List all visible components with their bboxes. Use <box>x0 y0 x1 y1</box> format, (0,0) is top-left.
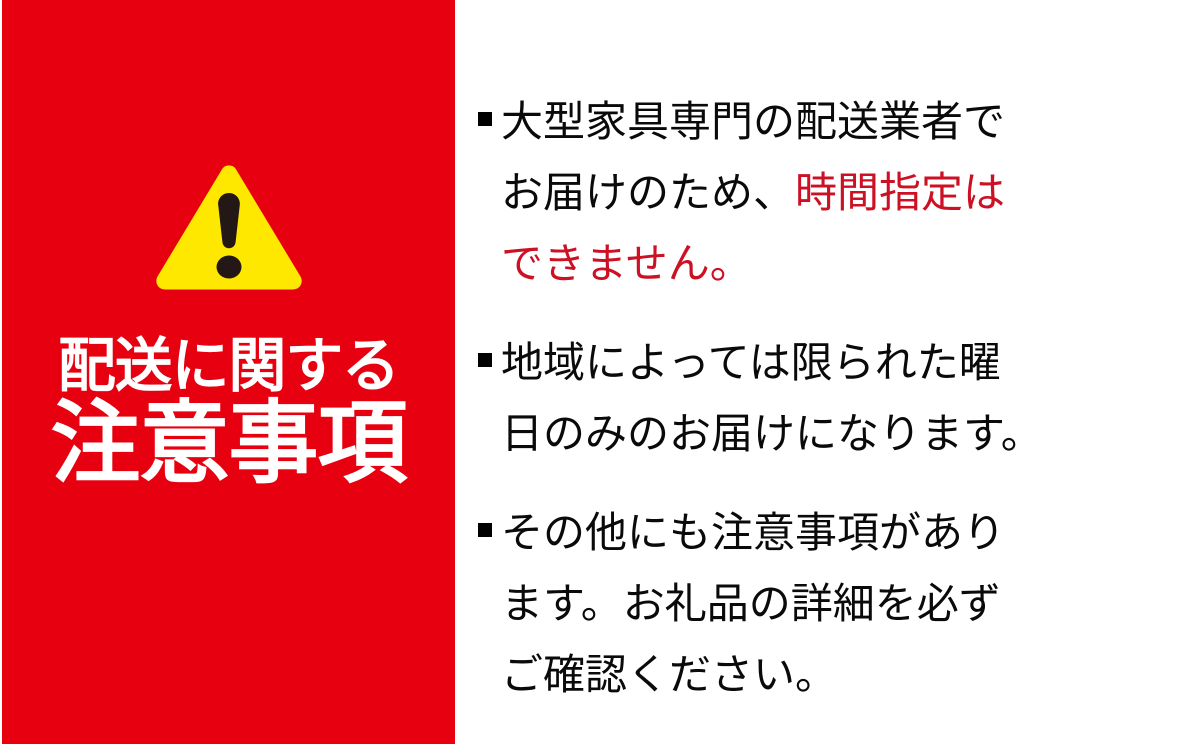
note-text: 地域によっては限られた曜日のみのお届けになります。 <box>501 327 1190 469</box>
note-text-run: 大型家具専門の配送業者で <box>501 98 1005 145</box>
list-item: その他にも注意事項があります。お礼品の詳細を必ずご確認ください。 <box>478 497 1190 710</box>
warning-triangle-icon <box>154 163 304 293</box>
page-title-line-2: 注意事項 <box>2 398 455 492</box>
note-text-line: お届けのため、時間指定は <box>501 157 1190 228</box>
square-bullet-icon <box>478 523 492 537</box>
note-text-run: お届けのため、 <box>501 169 795 216</box>
note-text-line: ます。お礼品の詳細を必ず <box>501 568 1190 639</box>
notes-list: 大型家具専門の配送業者でお届けのため、時間指定はできません。 地域によっては限ら… <box>478 86 1190 710</box>
square-bullet-icon <box>478 112 492 126</box>
note-text-line: 大型家具専門の配送業者で <box>501 86 1190 157</box>
delivery-notice-banner: 配送に関する 注意事項 大型家具専門の配送業者でお届けのため、時間指定はできませ… <box>0 0 1201 747</box>
square-bullet-icon <box>478 353 492 367</box>
note-text-highlight: できません。 <box>501 240 752 287</box>
note-text-run: ます。お礼品の詳細を必ず <box>501 580 1001 627</box>
list-item: 地域によっては限られた曜日のみのお届けになります。 <box>478 327 1190 469</box>
note-text: その他にも注意事項があります。お礼品の詳細を必ずご確認ください。 <box>501 497 1190 710</box>
page-title-line-1: 配送に関する <box>7 336 451 396</box>
page-title: 配送に関する 注意事項 <box>2 336 455 492</box>
note-text-highlight: 時間指定は <box>795 169 1005 216</box>
note-text-line: できません。 <box>501 228 1190 299</box>
note-text-run: 地域によっては限られた曜 <box>501 339 1001 386</box>
note-text: 大型家具専門の配送業者でお届けのため、時間指定はできません。 <box>501 86 1190 299</box>
note-text-line: その他にも注意事項があり <box>501 497 1190 568</box>
note-text-line: ご確認ください。 <box>501 639 1190 710</box>
note-text-run: その他にも注意事項があり <box>501 509 1005 556</box>
red-title-panel: 配送に関する 注意事項 <box>2 0 455 744</box>
note-text-run: ご確認ください。 <box>501 651 837 698</box>
list-item: 大型家具専門の配送業者でお届けのため、時間指定はできません。 <box>478 86 1190 299</box>
note-text-line: 地域によっては限られた曜 <box>501 327 1190 398</box>
note-text-run: 日のみのお届けになります。 <box>501 410 1043 457</box>
note-text-line: 日のみのお届けになります。 <box>501 398 1190 469</box>
